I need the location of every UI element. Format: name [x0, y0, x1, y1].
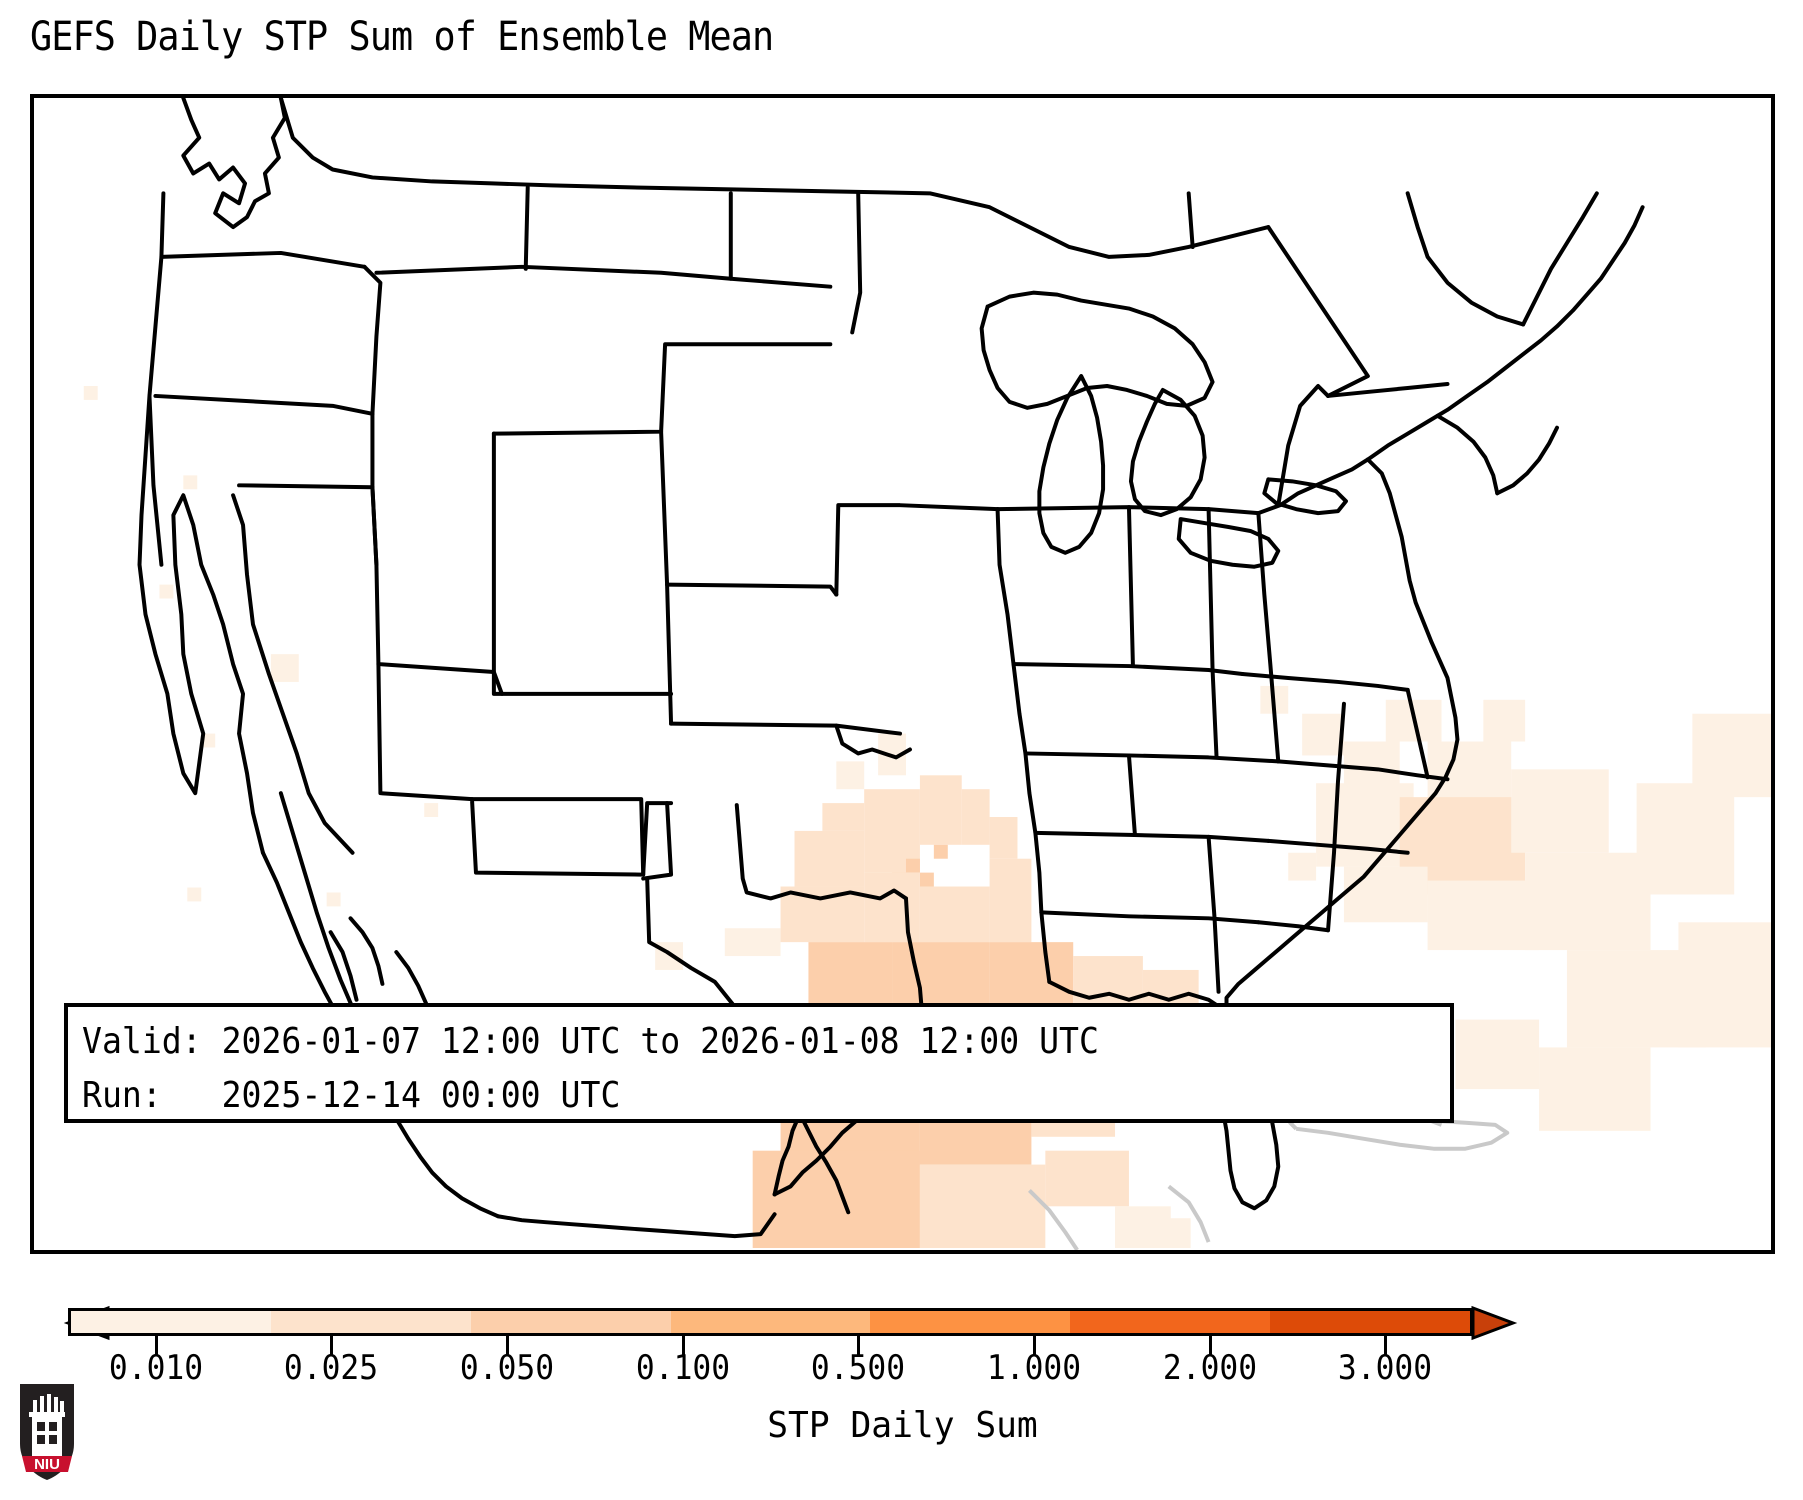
- data-cell: [794, 831, 864, 887]
- data-cell: [424, 803, 438, 817]
- data-cell: [1525, 853, 1650, 950]
- colorbar-tick-label-0: 0.010: [109, 1348, 203, 1388]
- colorbar-tick-label-6: 2.000: [1162, 1348, 1256, 1388]
- data-cell: [1511, 769, 1609, 852]
- data-cell: [962, 789, 990, 845]
- data-cell: [864, 873, 920, 943]
- colorbar-tick-label-1: 0.025: [284, 1348, 378, 1388]
- data-cell: [836, 761, 864, 789]
- data-cell: [920, 873, 934, 887]
- data-cell: [1045, 1151, 1129, 1207]
- colorbar-tick-label-3: 0.100: [636, 1348, 730, 1388]
- data-cell: [159, 585, 173, 599]
- data-cell: [1637, 783, 1735, 894]
- data-cell: [990, 859, 1032, 942]
- data-cell: [1149, 1218, 1191, 1248]
- data-cell: [725, 928, 781, 956]
- data-cell: [808, 942, 892, 1012]
- data-cell: [1483, 700, 1525, 742]
- data-cell: [327, 892, 341, 906]
- page-title: GEFS Daily STP Sum of Ensemble Mean: [30, 14, 773, 60]
- run-line: Run: 2025-12-14 00:00 UTC: [82, 1069, 1328, 1123]
- data-cell: [271, 654, 299, 682]
- data-cell: [1428, 881, 1539, 951]
- colorbar-tick-labels: 0.0100.0250.0500.1000.5001.0002.0003.000: [0, 1348, 1745, 1398]
- data-cell: [84, 386, 98, 400]
- colorbar-axis-label: STP Daily Sum: [65, 1405, 1740, 1446]
- colorbar[interactable]: [30, 1300, 1775, 1346]
- data-cell: [934, 845, 948, 859]
- data-cell: [920, 775, 962, 845]
- data-cell: [1302, 714, 1344, 756]
- colorbar-tick-label-7: 3.000: [1338, 1348, 1432, 1388]
- data-cell: [1344, 867, 1428, 923]
- data-cell: [1288, 853, 1316, 881]
- data-cell: [906, 859, 920, 873]
- data-cell: [1539, 1047, 1650, 1130]
- data-cell: [1316, 783, 1414, 866]
- niu-shield-logo: NIU: [16, 1382, 78, 1482]
- data-cell: [1692, 714, 1771, 797]
- colorbar-tick-label-4: 0.500: [811, 1348, 905, 1388]
- map-panel: Valid: 2026-01-07 12:00 UTC to 2026-01-0…: [30, 94, 1775, 1254]
- data-cell: [920, 887, 990, 943]
- data-cell: [187, 888, 201, 902]
- data-cell: [1455, 1020, 1539, 1090]
- colorbar-tick-label-2: 0.050: [460, 1348, 554, 1388]
- data-cell: [990, 817, 1018, 859]
- data-cell: [753, 1151, 920, 1248]
- valid-run-infobox: Valid: 2026-01-07 12:00 UTC to 2026-01-0…: [64, 1003, 1454, 1123]
- valid-line: Valid: 2026-01-07 12:00 UTC to 2026-01-0…: [82, 1015, 1328, 1069]
- data-cell: [920, 1165, 1045, 1248]
- data-cell: [183, 475, 197, 489]
- data-cell: [822, 803, 864, 831]
- colorbar-tick-label-5: 1.000: [987, 1348, 1081, 1388]
- niu-logo-text: NIU: [34, 1456, 60, 1473]
- data-cell: [1678, 922, 1771, 1047]
